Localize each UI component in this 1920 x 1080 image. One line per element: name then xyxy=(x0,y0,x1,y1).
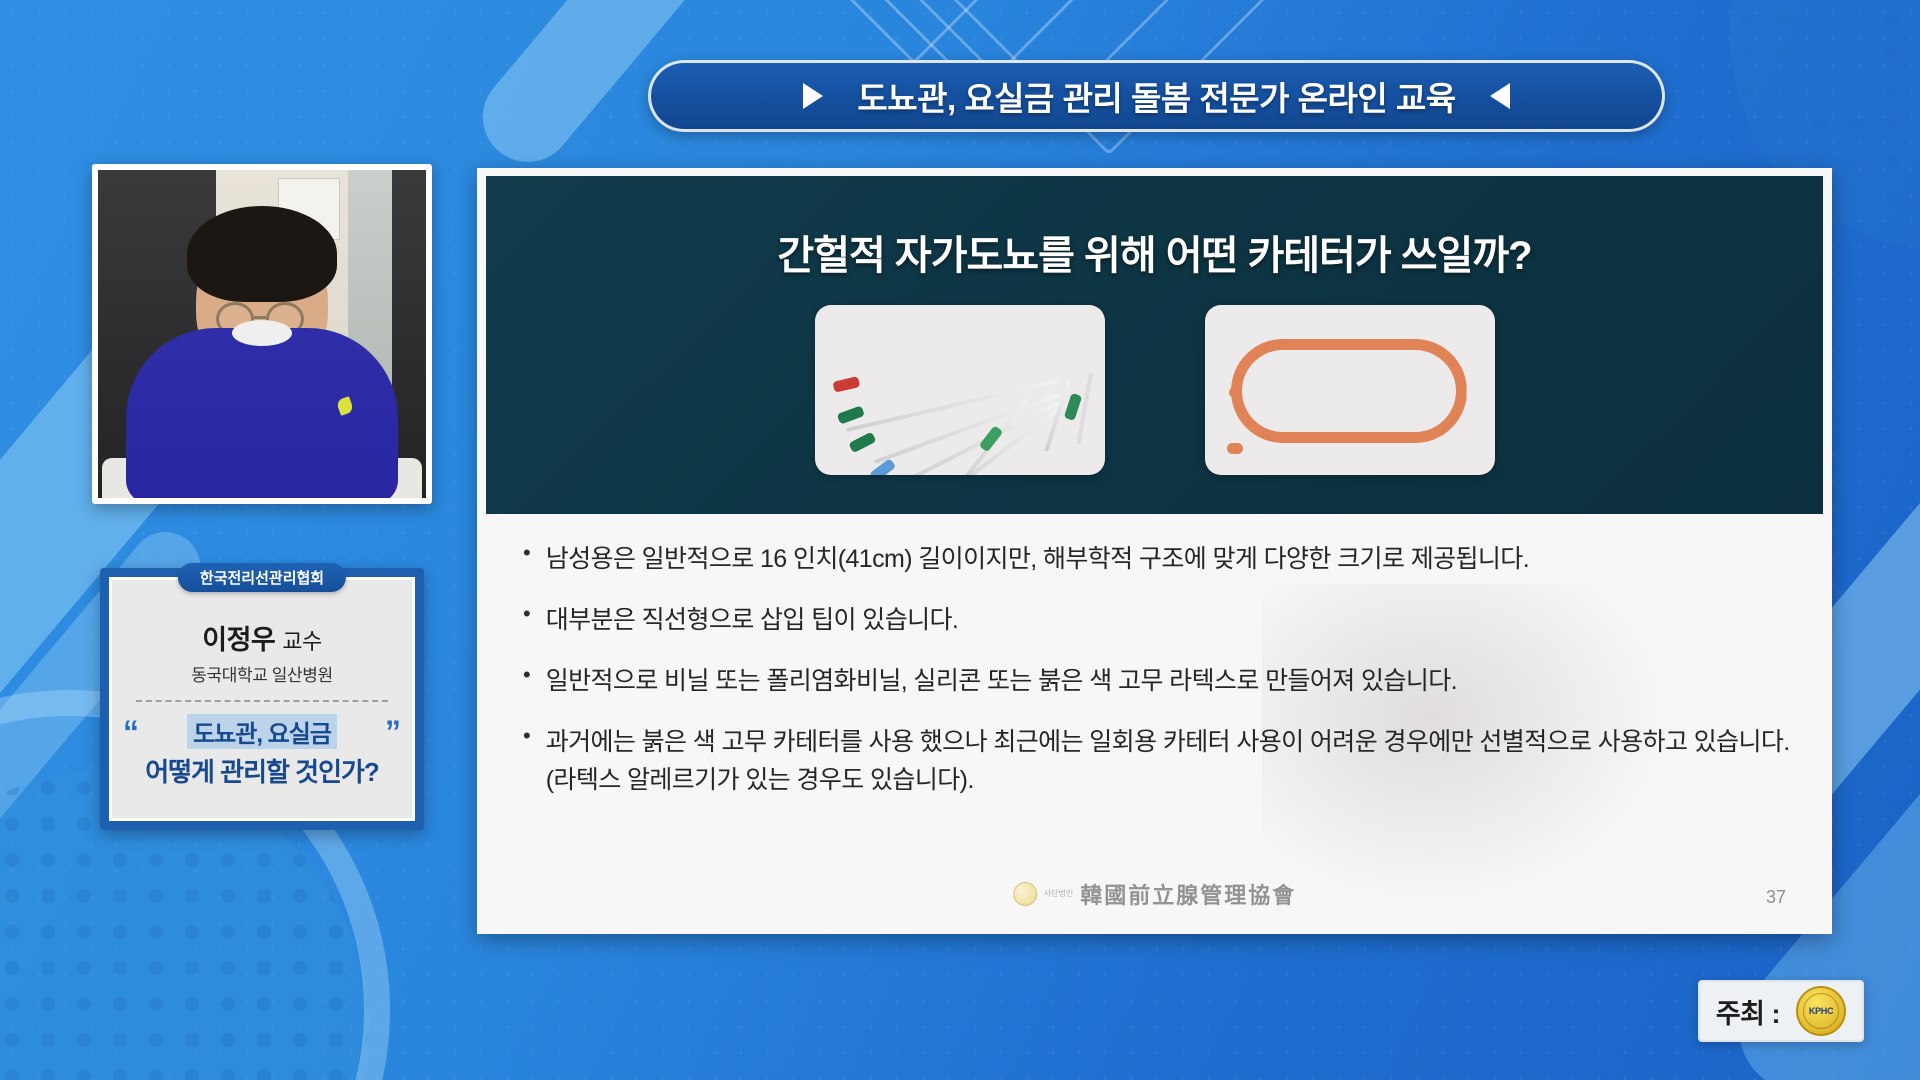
straight-catheters-photo xyxy=(815,305,1105,475)
list-item: • 과거에는 붉은 색 고무 카테터를 사용 했으나 최근에는 일회용 카테터 … xyxy=(523,723,1790,799)
slide-image-row xyxy=(815,305,1495,475)
triangle-left-icon xyxy=(1490,83,1510,109)
presenter-sweater xyxy=(126,328,398,498)
divider xyxy=(136,700,388,702)
catheter-tip-right xyxy=(1227,443,1243,454)
quote-line-1: 도뇨관, 요실금 xyxy=(187,714,337,749)
bullet-marker-icon: • xyxy=(523,662,531,700)
speaker-card-inner: 한국전리선관리협회 이정우 교수 동국대학교 일산병원 “ ” 도뇨관, 요실금… xyxy=(109,577,415,821)
kphc-logo-inner: KPHC xyxy=(1803,993,1839,1029)
host-badge: 주최 : KPHC xyxy=(1698,980,1864,1042)
catheter-funnel-green-4 xyxy=(1063,393,1081,421)
bullet-marker-icon: • xyxy=(523,540,531,578)
slide-header: 간헐적 자가도뇨를 위해 어떤 카테터가 쓰일까? xyxy=(486,176,1823,514)
list-item: • 대부분은 직선형으로 삽입 팁이 있습니다. xyxy=(523,601,1790,639)
presenter-hair xyxy=(187,206,337,302)
speaker-name-text: 이정우 xyxy=(202,625,275,655)
catheter-funnel-green-2 xyxy=(848,432,876,454)
eyeglasses-bridge xyxy=(254,316,266,319)
bullet-marker-icon: • xyxy=(523,601,531,639)
slide-title: 간헐적 자가도뇨를 위해 어떤 카테터가 쓰일까? xyxy=(777,223,1531,281)
footer-logo-small-text: 사단법인 xyxy=(1044,890,1073,898)
seal-icon xyxy=(1013,882,1037,906)
red-rubber-catheter-loop xyxy=(1231,339,1467,443)
presenter-collar xyxy=(232,320,292,346)
bullet-text: 일반적으로 비닐 또는 폴리염화비닐, 실리콘 또는 붉은 색 고무 라텍스로 … xyxy=(546,662,1457,700)
speaker-quote: “ ” 도뇨관, 요실금 어떻게 관리할 것인가? xyxy=(117,714,407,789)
presentation-slide[interactable]: 간헐적 자가도뇨를 위해 어떤 카테터가 쓰일까? xyxy=(477,168,1832,934)
red-rubber-catheter-photo xyxy=(1205,305,1495,475)
quote-close-icon: ” xyxy=(385,716,401,748)
bullet-text: 남성용은 일반적으로 16 인치(41cm) 길이이지만, 해부학적 구조에 맞… xyxy=(546,540,1529,578)
list-item: • 일반적으로 비닐 또는 폴리염화비닐, 실리콘 또는 붉은 색 고무 라텍스… xyxy=(523,662,1790,700)
catheter-shaft-7 xyxy=(1076,373,1092,445)
bullet-text: 과거에는 붉은 색 고무 카테터를 사용 했으나 최근에는 일회용 카테터 사용… xyxy=(546,723,1790,799)
organization-badge: 한국전리선관리협회 xyxy=(178,563,346,592)
slide-page-number: 37 xyxy=(1766,887,1786,908)
slide-bullet-list: • 남성용은 일반적으로 16 인치(41cm) 길이이지만, 해부학적 구조에… xyxy=(523,540,1790,822)
bullet-text: 대부분은 직선형으로 삽입 팁이 있습니다. xyxy=(546,601,959,639)
catheter-funnel-green-1 xyxy=(836,405,864,424)
speaker-name: 이정우 교수 xyxy=(202,618,322,657)
host-label: 주최 : xyxy=(1716,992,1780,1031)
triangle-right-icon xyxy=(803,83,823,109)
slide-footer-logo: 사단법인 韓國前立腺管理協會 xyxy=(1013,878,1296,910)
quote-line-2: 어떻게 관리할 것인가? xyxy=(117,752,407,789)
page-title: 도뇨관, 요실금 관리 돌봄 전문가 온라인 교육 xyxy=(857,72,1455,120)
speaker-affiliation: 동국대학교 일산병원 xyxy=(191,661,332,686)
catheter-tip-left xyxy=(1229,387,1241,398)
presenter-video[interactable] xyxy=(98,170,426,498)
footer-logo-text: 韓國前立腺管理協會 xyxy=(1080,878,1296,910)
speaker-info-card: 한국전리선관리협회 이정우 교수 동국대학교 일산병원 “ ” 도뇨관, 요실금… xyxy=(100,568,424,830)
catheter-funnel-red xyxy=(832,376,860,393)
list-item: • 남성용은 일반적으로 16 인치(41cm) 길이이지만, 해부학적 구조에… xyxy=(523,540,1790,578)
page-title-banner: 도뇨관, 요실금 관리 돌봄 전문가 온라인 교육 xyxy=(648,60,1665,132)
kphc-logo-text: KPHC xyxy=(1809,1006,1833,1016)
bullet-marker-icon: • xyxy=(523,723,531,799)
quote-open-icon: “ xyxy=(123,716,139,748)
kphc-logo-icon: KPHC xyxy=(1796,986,1846,1036)
speaker-role-text: 교수 xyxy=(282,629,321,654)
presenter-webcam-panel[interactable] xyxy=(92,164,432,504)
